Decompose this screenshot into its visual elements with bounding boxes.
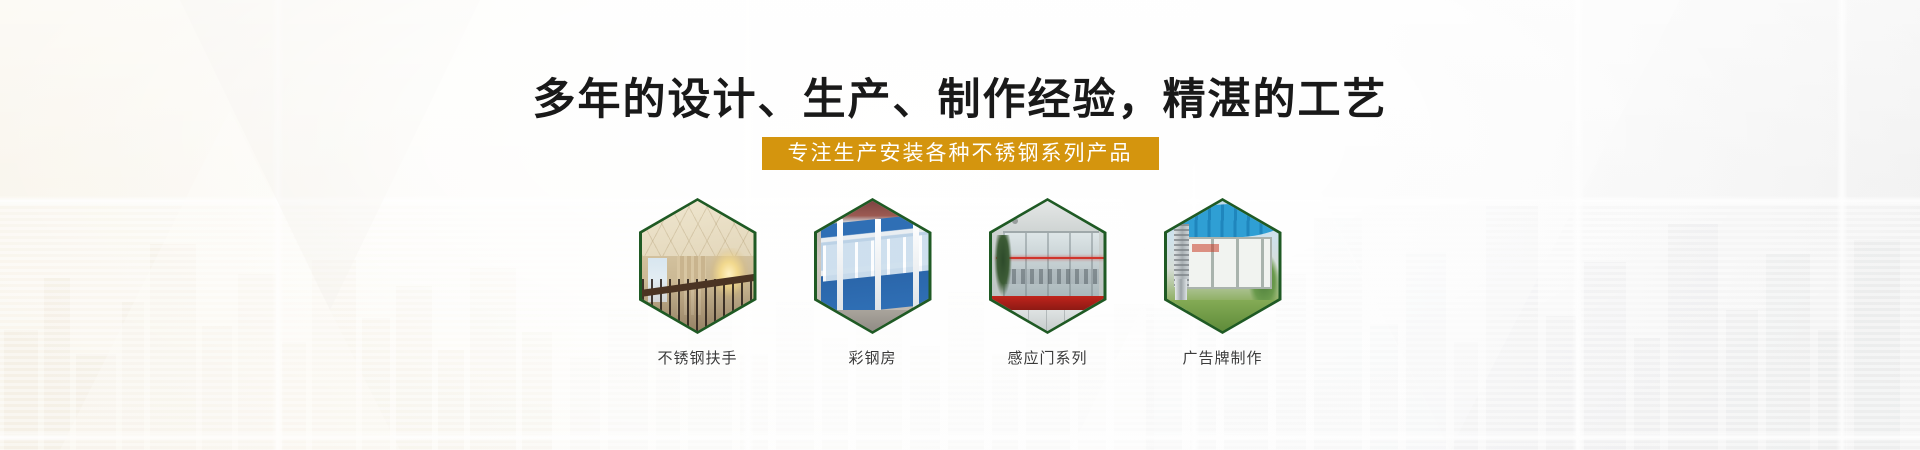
page-title: 多年的设计、生产、制作经验，精湛的工艺 <box>0 76 1920 125</box>
hexagon-frame[interactable] <box>989 198 1107 334</box>
product-card-handrail[interactable]: 不锈钢扶手 <box>639 198 757 368</box>
banner-content: 多年的设计、生产、制作经验，精湛的工艺 专注生产安装各种不锈钢系列产品 <box>0 0 1920 450</box>
product-card-billboard[interactable]: 广告牌制作 <box>1164 198 1282 368</box>
product-category-list: 不锈钢扶手 <box>0 198 1920 368</box>
product-card-label: 广告牌制作 <box>1182 347 1262 368</box>
product-card-color-steel-house[interactable]: 彩钢房 <box>814 198 932 368</box>
hexagon-image-clip <box>1167 201 1279 331</box>
promotional-banner: 多年的设计、生产、制作经验，精湛的工艺 专注生产安装各种不锈钢系列产品 <box>0 0 1920 450</box>
hexagon-image-clip <box>642 201 754 331</box>
product-card-label: 感应门系列 <box>1007 347 1087 368</box>
sensor-door-photo <box>992 201 1104 331</box>
color-steel-cabin-photo <box>817 201 929 331</box>
product-card-label: 彩钢房 <box>848 347 896 368</box>
billboard-photo <box>1167 201 1279 331</box>
subtitle-badge: 专注生产安装各种不锈钢系列产品 <box>762 137 1159 170</box>
hexagon-frame[interactable] <box>639 198 757 334</box>
product-card-sensor-door[interactable]: 感应门系列 <box>989 198 1107 368</box>
product-card-label: 不锈钢扶手 <box>657 347 737 368</box>
hexagon-frame[interactable] <box>1164 198 1282 334</box>
hexagon-frame[interactable] <box>814 198 932 334</box>
handrail-photo <box>642 201 754 331</box>
hexagon-image-clip <box>817 201 929 331</box>
hexagon-image-clip <box>992 201 1104 331</box>
subtitle-container: 专注生产安装各种不锈钢系列产品 <box>0 137 1920 170</box>
